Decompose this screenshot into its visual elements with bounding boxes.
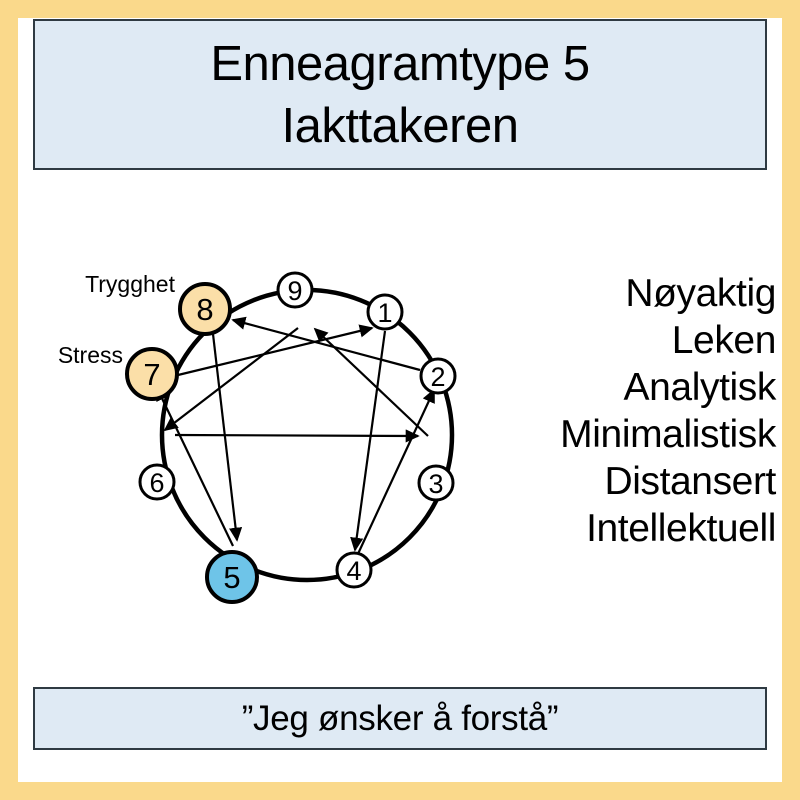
node-label-3: 3 (428, 469, 443, 499)
enneagram-node-5[interactable]: 5 (207, 552, 257, 602)
stress-label: Stress (58, 342, 123, 368)
enneagram-diagram: Trygghet Stress 1 2 3 4 5 (30, 240, 490, 620)
traits-list: Nøyaktig Leken Analytisk Minimalistisk D… (488, 270, 788, 552)
arrow-1-to-4 (355, 331, 385, 550)
trait-item: Minimalistisk (488, 411, 776, 458)
node-label-7: 7 (143, 357, 160, 392)
enneagram-node-6[interactable]: 6 (140, 465, 174, 499)
enneagram-node-8[interactable]: 8 (180, 284, 230, 334)
node-label-9: 9 (287, 276, 302, 306)
enneagram-node-7[interactable]: 7 (127, 349, 177, 399)
enneagram-node-3[interactable]: 3 (419, 466, 453, 500)
arrow-6-to-3 (175, 435, 418, 436)
node-label-2: 2 (430, 362, 445, 392)
enneagram-node-2[interactable]: 2 (421, 359, 455, 393)
arrow-3-to-9 (315, 329, 428, 436)
trait-item: Intellektuell (488, 505, 776, 552)
page-title-line-2: Iakttakeren (282, 95, 519, 157)
trait-item: Leken (488, 317, 776, 364)
node-label-1: 1 (377, 298, 392, 328)
page-title-line-1: Enneagramtype 5 (210, 33, 589, 95)
poster-page: Enneagramtype 5 Iakttakeren (0, 0, 800, 800)
node-label-6: 6 (149, 468, 164, 498)
enneagram-node-9[interactable]: 9 (278, 273, 312, 307)
security-label: Trygghet (85, 271, 176, 297)
node-label-5: 5 (223, 560, 240, 595)
arrow-9-to-6 (165, 328, 298, 430)
node-label-4: 4 (346, 556, 361, 586)
enneagram-node-4[interactable]: 4 (337, 553, 371, 587)
enneagram-node-1[interactable]: 1 (368, 295, 402, 329)
trait-item: Distansert (488, 458, 776, 505)
trait-item: Analytisk (488, 364, 776, 411)
quote-panel: ”Jeg ønsker å forstå” (33, 687, 767, 750)
trait-item: Nøyaktig (488, 270, 776, 317)
node-label-8: 8 (196, 292, 213, 327)
title-panel: Enneagramtype 5 Iakttakeren (33, 19, 767, 170)
quote-text: ”Jeg ønsker å forstå” (242, 698, 559, 740)
